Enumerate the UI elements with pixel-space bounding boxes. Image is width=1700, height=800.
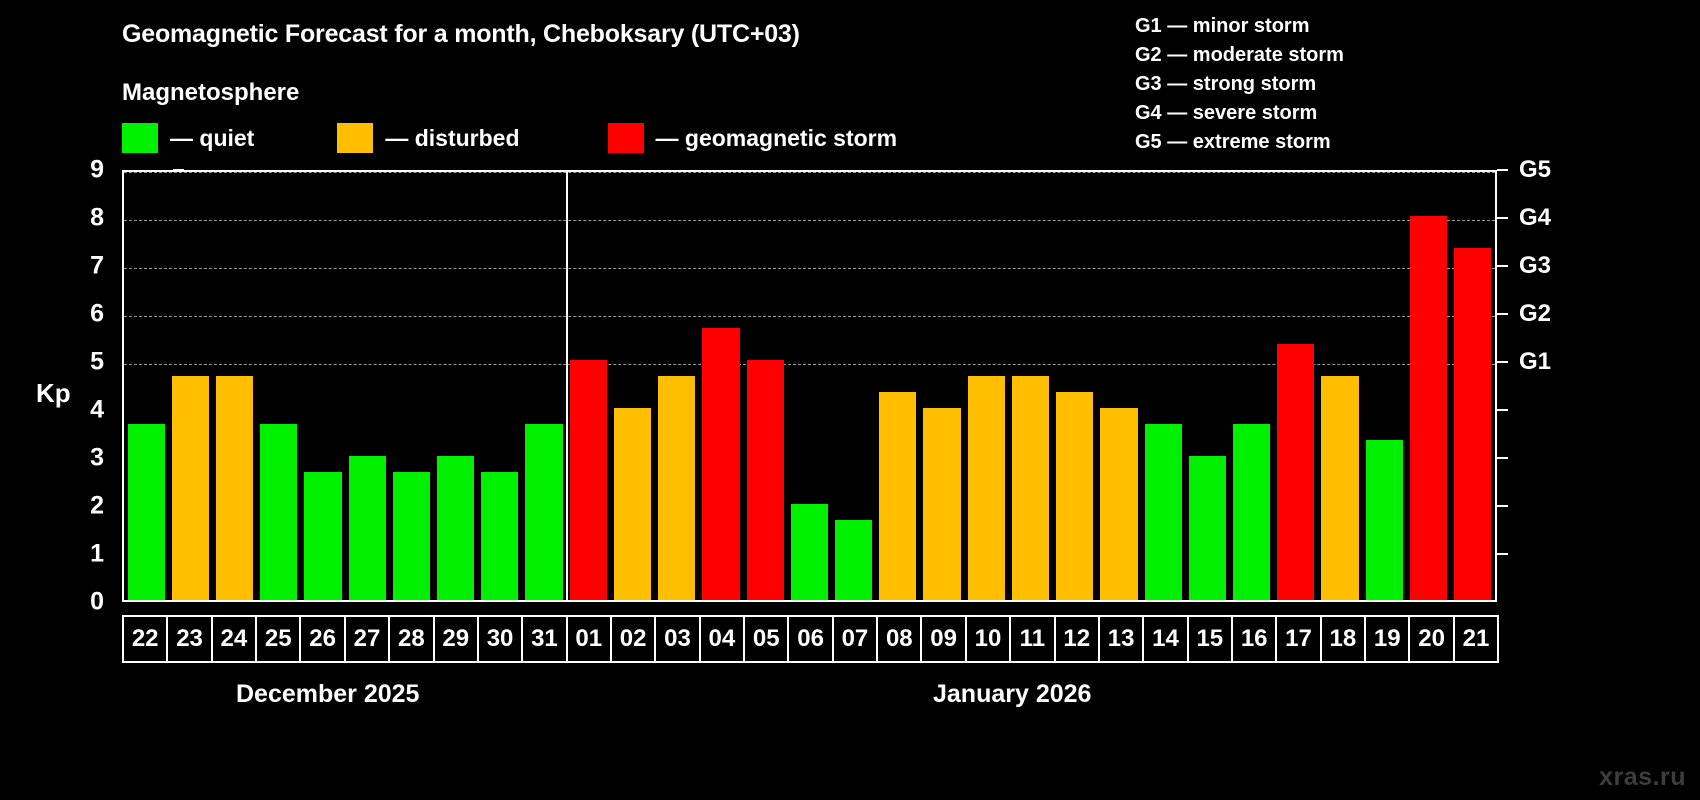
legend-swatch-disturbed	[337, 123, 373, 153]
bar-cell[interactable]	[1229, 172, 1273, 600]
day-label-box-24[interactable]: 24	[211, 615, 257, 663]
bar-day-04[interactable]	[702, 328, 739, 600]
day-label-text: 20	[1418, 627, 1445, 651]
day-label-box-18[interactable]: 18	[1320, 615, 1366, 663]
bar-cell[interactable]	[1141, 172, 1185, 600]
g-tick-mark-g1	[1497, 361, 1508, 363]
day-label-box-01[interactable]: 01	[566, 615, 612, 663]
day-label-text: 26	[309, 627, 336, 651]
bar-day-17[interactable]	[1277, 344, 1314, 600]
day-label-box-15[interactable]: 15	[1187, 615, 1233, 663]
bar-cell[interactable]	[920, 172, 964, 600]
g-tick-label-g5: G5	[1519, 156, 1551, 184]
gscale-line-g1: G1 — minor storm	[1135, 12, 1344, 41]
g-tick-mark-g3	[1497, 265, 1508, 267]
bar-cell[interactable]	[832, 172, 876, 600]
day-label-box-19[interactable]: 19	[1364, 615, 1410, 663]
bar-cell[interactable]	[1185, 172, 1229, 600]
bar-day-05[interactable]	[747, 360, 784, 600]
bar-cell[interactable]	[1362, 172, 1406, 600]
day-label-text: 11	[1020, 627, 1045, 651]
day-label-box-23[interactable]: 23	[166, 615, 212, 663]
g-tick-label-g1: G1	[1519, 348, 1551, 376]
day-label-box-13[interactable]: 13	[1098, 615, 1144, 663]
day-label-box-30[interactable]: 30	[477, 615, 523, 663]
bar-cell[interactable]	[301, 172, 345, 600]
bar-day-16[interactable]	[1233, 424, 1270, 600]
day-label-box-09[interactable]: 09	[920, 615, 966, 663]
bar-cell[interactable]	[434, 172, 478, 600]
day-label-text: 31	[531, 627, 558, 651]
day-label-box-21[interactable]: 21	[1453, 615, 1499, 663]
day-label-box-05[interactable]: 05	[743, 615, 789, 663]
y-tick-label-7: 7	[90, 252, 104, 281]
bar-cell[interactable]	[212, 172, 256, 600]
bar-day-18[interactable]	[1321, 376, 1358, 600]
bar-day-20[interactable]	[1410, 216, 1447, 600]
bar-cell[interactable]	[522, 172, 566, 600]
day-label-box-02[interactable]: 02	[610, 615, 656, 663]
bar-day-07[interactable]	[835, 520, 872, 600]
day-label-row: 2223242526272829303101020304050607080910…	[122, 615, 1497, 663]
y-tick-label-9: 9	[90, 156, 104, 185]
g-axis-minor-tick-2	[1497, 505, 1508, 507]
bar-cell[interactable]	[743, 172, 787, 600]
bar-cell[interactable]	[964, 172, 1008, 600]
bar-cell[interactable]	[389, 172, 433, 600]
bar-cell[interactable]	[1097, 172, 1141, 600]
bar-day-28[interactable]	[393, 472, 430, 600]
chart-plot-inner	[124, 172, 1495, 600]
bar-day-25[interactable]	[260, 424, 297, 600]
bar-day-21[interactable]	[1454, 248, 1491, 600]
day-label-text: 16	[1241, 627, 1268, 651]
legend-label-storm: — geomagnetic storm	[656, 125, 898, 152]
page-title: Geomagnetic Forecast for a month, Chebok…	[122, 20, 800, 49]
month-caption-december: December 2025	[236, 680, 419, 709]
bar-cell[interactable]	[345, 172, 389, 600]
g-axis-minor-tick-1	[1497, 553, 1508, 555]
day-label-text: 23	[176, 627, 203, 651]
day-label-box-20[interactable]: 20	[1408, 615, 1454, 663]
y-tick-label-5: 5	[90, 348, 104, 377]
bar-cell[interactable]	[257, 172, 301, 600]
day-label-text: 07	[842, 627, 869, 651]
day-label-box-29[interactable]: 29	[433, 615, 479, 663]
month-caption-january: January 2026	[933, 680, 1091, 709]
day-label-box-28[interactable]: 28	[388, 615, 434, 663]
bar-cell[interactable]	[610, 172, 654, 600]
month-divider	[566, 172, 568, 600]
day-label-text: 08	[886, 627, 913, 651]
bar-cell[interactable]	[478, 172, 522, 600]
legend-swatch-storm	[608, 123, 644, 153]
day-label-text: 22	[132, 627, 159, 651]
g-tick-mark-g5	[1497, 169, 1508, 171]
day-label-text: 28	[398, 627, 425, 651]
day-label-text: 01	[575, 627, 602, 651]
bar-day-31[interactable]	[525, 424, 562, 600]
y-tick-label-1: 1	[90, 540, 104, 569]
day-label-box-07[interactable]: 07	[832, 615, 878, 663]
bar-day-27[interactable]	[349, 456, 386, 600]
legend-label-quiet: — quiet	[170, 125, 254, 152]
gscale-line-g4: G4 — severe storm	[1135, 99, 1344, 128]
day-label-text: 30	[487, 627, 514, 651]
gscale-line-g2: G2 — moderate storm	[1135, 41, 1344, 70]
g-tick-mark-g4	[1497, 217, 1508, 219]
bar-day-29[interactable]	[437, 456, 474, 600]
day-label-box-22[interactable]: 22	[122, 615, 168, 663]
g-axis-minor-tick-4	[1497, 409, 1508, 411]
gscale-line-g3: G3 — strong storm	[1135, 70, 1344, 99]
bar-day-01[interactable]	[570, 360, 607, 600]
bar-cell[interactable]	[876, 172, 920, 600]
day-label-box-31[interactable]: 31	[521, 615, 567, 663]
legend-swatch-quiet	[122, 123, 158, 153]
day-label-box-11[interactable]: 11	[1009, 615, 1055, 663]
day-label-box-04[interactable]: 04	[699, 615, 745, 663]
day-label-text: 19	[1374, 627, 1401, 651]
day-label-box-16[interactable]: 16	[1231, 615, 1277, 663]
g-tick-label-g4: G4	[1519, 204, 1551, 232]
bar-day-19[interactable]	[1366, 440, 1403, 600]
day-label-box-26[interactable]: 26	[299, 615, 345, 663]
bar-day-13[interactable]	[1100, 408, 1137, 600]
bar-cell[interactable]	[655, 172, 699, 600]
bar-day-12[interactable]	[1056, 392, 1093, 600]
day-label-text: 10	[975, 627, 1002, 651]
day-label-text: 17	[1285, 627, 1312, 651]
bar-cell[interactable]	[1008, 172, 1052, 600]
day-label-box-06[interactable]: 06	[787, 615, 833, 663]
g-tick-label-g2: G2	[1519, 300, 1551, 328]
day-label-box-17[interactable]: 17	[1275, 615, 1321, 663]
day-label-text: 29	[442, 627, 469, 651]
y-tick-label-6: 6	[90, 300, 104, 329]
day-label-text: 09	[930, 627, 957, 651]
bar-cell[interactable]	[1274, 172, 1318, 600]
g-tick-label-g3: G3	[1519, 252, 1551, 280]
day-label-text: 24	[221, 627, 248, 651]
bar-day-24[interactable]	[216, 376, 253, 600]
y-tick-label-4: 4	[90, 396, 104, 425]
bar-day-30[interactable]	[481, 472, 518, 600]
bar-day-15[interactable]	[1189, 456, 1226, 600]
legend-item-disturbed: — disturbed	[337, 122, 519, 154]
gscale-line-g5: G5 — extreme storm	[1135, 128, 1344, 157]
bar-day-09[interactable]	[923, 408, 960, 600]
chart-plot-area	[122, 170, 1497, 602]
day-label-box-08[interactable]: 08	[876, 615, 922, 663]
bar-cell[interactable]	[1318, 172, 1362, 600]
watermark: xras.ru	[1599, 763, 1686, 792]
gscale-legend: G1 — minor storm G2 — moderate storm G3 …	[1135, 12, 1344, 157]
day-label-text: 27	[354, 627, 381, 651]
legend-item-storm: — geomagnetic storm	[608, 122, 898, 154]
day-label-text: 06	[797, 627, 824, 651]
day-label-text: 18	[1330, 627, 1357, 651]
day-label-text: 03	[664, 627, 691, 651]
day-label-text: 21	[1463, 627, 1490, 651]
day-label-text: 05	[753, 627, 780, 651]
day-label-text: 25	[265, 627, 292, 651]
bar-cell[interactable]	[168, 172, 212, 600]
bar-day-02[interactable]	[614, 408, 651, 600]
g-axis-minor-tick-3	[1497, 457, 1508, 459]
y-tick-label-2: 2	[90, 492, 104, 521]
bar-day-26[interactable]	[304, 472, 341, 600]
day-label-text: 12	[1063, 627, 1090, 651]
y-tick-label-0: 0	[90, 588, 104, 617]
bar-series	[124, 172, 1495, 600]
day-label-box-03[interactable]: 03	[654, 615, 700, 663]
bar-day-22[interactable]	[128, 424, 165, 600]
day-label-text: 04	[709, 627, 736, 651]
legend-heading: Magnetosphere	[122, 79, 299, 107]
bar-cell[interactable]	[1406, 172, 1450, 600]
bar-cell[interactable]	[1053, 172, 1097, 600]
bar-day-08[interactable]	[879, 392, 916, 600]
legend-item-quiet: — quiet	[122, 122, 254, 154]
bar-day-14[interactable]	[1145, 424, 1182, 600]
day-label-text: 15	[1196, 627, 1223, 651]
day-label-box-12[interactable]: 12	[1054, 615, 1100, 663]
bar-day-06[interactable]	[791, 504, 828, 600]
bar-cell[interactable]	[124, 172, 168, 600]
y-tick-label-8: 8	[90, 204, 104, 233]
bar-day-11[interactable]	[1012, 376, 1049, 600]
day-label-box-25[interactable]: 25	[255, 615, 301, 663]
y-axis: 0123456789	[62, 170, 104, 602]
magnetosphere-legend: — quiet — disturbed — geomagnetic storm	[122, 122, 897, 154]
bar-cell[interactable]	[566, 172, 610, 600]
day-label-box-14[interactable]: 14	[1142, 615, 1188, 663]
legend-label-disturbed: — disturbed	[385, 125, 519, 152]
g-tick-mark-g2	[1497, 313, 1508, 315]
g-axis: G1G2G3G4G5	[1497, 170, 1587, 602]
bar-day-03[interactable]	[658, 376, 695, 600]
day-label-box-10[interactable]: 10	[965, 615, 1011, 663]
y-tick-label-3: 3	[90, 444, 104, 473]
bar-cell[interactable]	[699, 172, 743, 600]
day-label-text: 02	[620, 627, 647, 651]
bar-day-23[interactable]	[172, 376, 209, 600]
day-label-text: 14	[1152, 627, 1179, 651]
bar-cell[interactable]	[1451, 172, 1495, 600]
day-label-box-27[interactable]: 27	[344, 615, 390, 663]
day-label-text: 13	[1108, 627, 1135, 651]
bar-cell[interactable]	[787, 172, 831, 600]
bar-day-10[interactable]	[968, 376, 1005, 600]
